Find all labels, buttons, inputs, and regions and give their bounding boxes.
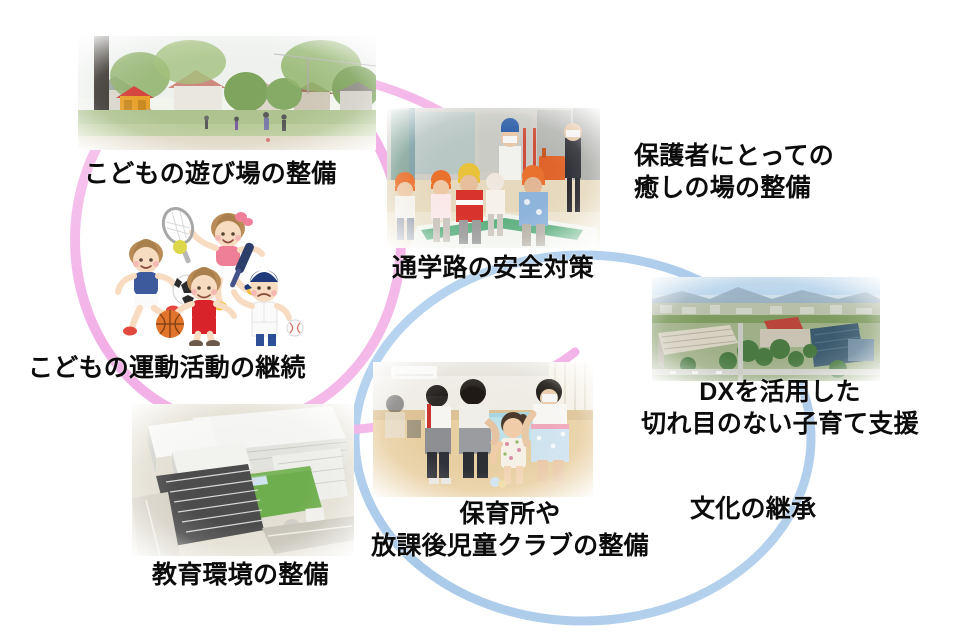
concept-diagram: こどもの遊び場の整備 こどもの運動活動の継続 教育環境の整備 通学路の安全対策 …: [0, 0, 960, 640]
illustration-sports-kids: [108, 198, 323, 346]
label-exercise: こどもの運動活動の継続: [28, 352, 306, 384]
label-dx-support: DXを活用した 切れ目のない子育て支援: [620, 376, 940, 440]
photo-park: [78, 36, 376, 150]
label-nursery: 保育所や 放課後児童クラブの整備: [355, 498, 665, 562]
label-school-road: 通学路の安全対策: [392, 252, 594, 284]
photo-school: [132, 404, 354, 556]
label-guardian: 保護者にとっての 癒しの場の整備: [634, 140, 834, 204]
label-culture: 文化の継承: [690, 493, 816, 525]
photo-aerial-town: [652, 277, 880, 381]
label-playground: こどもの遊び場の整備: [84, 158, 337, 190]
photo-crosswalk: [387, 108, 600, 248]
photo-nursery-room: [373, 362, 593, 497]
label-education: 教育環境の整備: [152, 559, 329, 591]
